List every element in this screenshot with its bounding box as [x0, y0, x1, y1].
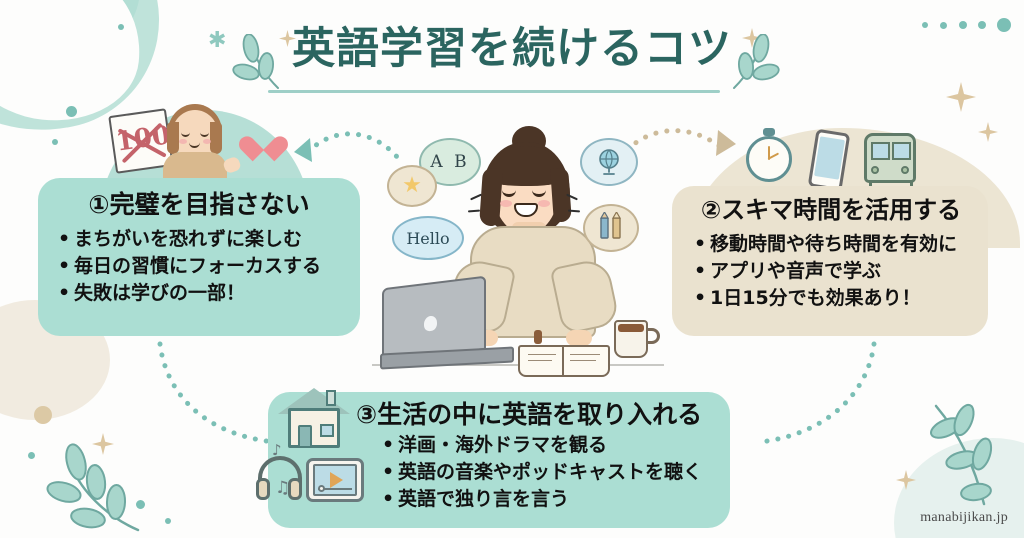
arrow-card2-to-card3	[716, 330, 896, 450]
house-chimney	[326, 390, 336, 406]
decor-dot	[52, 139, 58, 145]
card-3-bullet: 英語の音楽やポッドキャストを聴く	[382, 459, 716, 486]
decor-dot	[136, 500, 145, 509]
sparkle-icon	[92, 433, 114, 455]
house-window	[320, 424, 334, 437]
leaf-sprig-icon	[930, 400, 1024, 510]
card-3-bullet: 洋画・海外ドラマを観る	[382, 432, 716, 459]
bus-window-right	[892, 142, 911, 160]
book-text-line	[570, 360, 596, 361]
title-underline	[268, 90, 720, 93]
cheek-right	[538, 200, 550, 207]
hand-right	[566, 330, 592, 346]
decor-dot	[66, 106, 77, 117]
decor-dot	[165, 518, 171, 524]
decor-dot	[28, 452, 35, 459]
card-2-title: ②スキマ時間を活用する	[688, 196, 974, 225]
infographic-canvas: ✱	[0, 0, 1024, 538]
play-button-icon[interactable]	[330, 472, 343, 488]
card-tip-1[interactable]: ①完璧を目指さない まちがいを恐れずに楽しむ 毎日の習慣にフォーカスする 失敗は…	[38, 178, 360, 336]
card-1-title: ①完璧を目指さない	[54, 190, 344, 220]
girl-cheek-left	[179, 139, 187, 144]
heart-icon	[248, 126, 278, 153]
card-2-bullet: 移動時間や待ち時間を有効に	[694, 231, 974, 258]
card-2-bullet: 1日15分でも効果あり！	[694, 285, 974, 312]
wristwatch	[534, 330, 542, 344]
house-door	[298, 425, 312, 448]
card-1-bullet: まちがいを恐れずに楽しむ	[58, 226, 344, 253]
card-2-bullets: 移動時間や待ち時間を有効に アプリや音声で学ぶ 1日15分でも効果あり！	[694, 231, 974, 312]
bubble-hello-text: Hello	[406, 229, 449, 248]
card-3-bullet: 英語で独り言を言う	[382, 486, 716, 513]
star-icon: ★	[402, 175, 422, 197]
page-title-wrap: 英語学習を続けるコツ	[0, 26, 1024, 73]
sparkle-icon	[946, 82, 976, 112]
headphone-ear-left	[256, 478, 270, 500]
speech-bubble-hello: Hello	[392, 216, 464, 260]
speech-bubble-star: ★	[387, 165, 437, 207]
card-1-bullets: まちがいを恐れずに楽しむ 毎日の習慣にフォーカスする 失敗は学びの一部！	[58, 226, 344, 307]
card-1-bullet: 失敗は学びの一部！	[58, 280, 344, 307]
sparkle-icon	[896, 470, 916, 490]
globe-icon	[594, 147, 624, 177]
speech-bubble-pencil	[583, 204, 639, 252]
bubble-ab-text: A B	[430, 152, 469, 172]
excitement-line	[468, 210, 480, 213]
stopwatch-crown	[763, 128, 775, 136]
card-3-bullets: 洋画・海外ドラマを観る 英語の音楽やポッドキャストを聴く 英語で独り言を言う	[382, 432, 716, 513]
pencils-icon	[596, 212, 626, 244]
page-title: 英語学習を続けるコツ	[292, 26, 732, 73]
girl-cheek-right	[203, 139, 211, 144]
watermark: manabijikan.jp	[920, 510, 1008, 526]
leaf-sprig-icon	[30, 438, 150, 534]
open-book	[518, 345, 610, 377]
tablet-progress-knob[interactable]	[318, 485, 325, 492]
music-note-icon: ♫	[275, 480, 290, 497]
card-1-bullet: 毎日の習慣にフォーカスする	[58, 253, 344, 280]
bus-window-left	[871, 142, 890, 160]
speech-bubble-globe	[580, 138, 638, 186]
cheek-left	[500, 200, 512, 207]
mug-handle	[646, 328, 660, 344]
card-2-bullet: アプリや音声で学ぶ	[694, 258, 974, 285]
bus-headlight-right	[901, 166, 909, 174]
bus-headlight-left	[871, 166, 879, 174]
music-note-icon: ♪	[272, 443, 282, 458]
book-text-line	[570, 354, 600, 355]
book-text-line	[528, 354, 556, 355]
book-text-line	[528, 360, 552, 361]
crossed-out-mark-icon	[113, 117, 171, 168]
book-spine	[562, 345, 564, 377]
girl-hair-right	[210, 122, 222, 154]
decor-dot-beige	[34, 406, 52, 424]
girl-hair-left	[167, 122, 179, 154]
card-tip-2[interactable]: ②スキマ時間を活用する 移動時間や待ち時間を有効に アプリや音声で学ぶ 1日15…	[672, 186, 988, 336]
hair-side-left	[479, 167, 503, 226]
sparkle-icon	[978, 122, 998, 142]
coffee-liquid	[618, 324, 644, 332]
